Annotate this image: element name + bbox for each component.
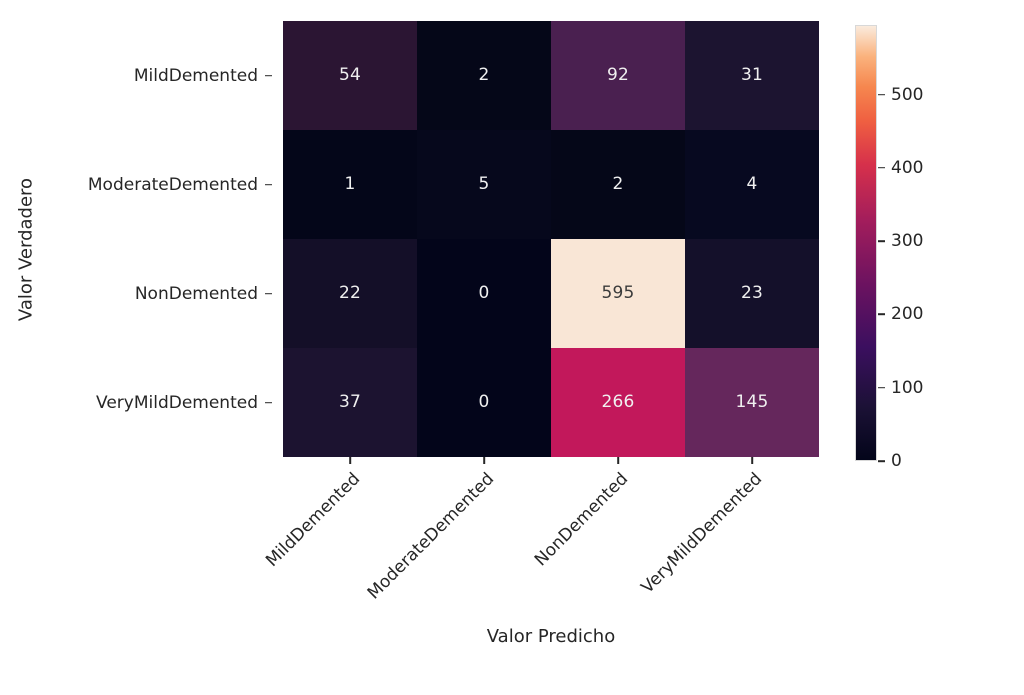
heatmap-cell: 31: [685, 21, 819, 130]
heatmap-cell-value: 2: [478, 67, 489, 84]
x-tick-mark: [617, 457, 619, 464]
colorbar-tick-label: 200: [891, 304, 923, 324]
colorbar-tick-label: 500: [891, 85, 923, 105]
heatmap-cell: 0: [417, 348, 551, 457]
heatmap-grid: 5429231152422059523370266145: [283, 21, 819, 457]
y-tick-label: VeryMildDemented: [96, 393, 258, 413]
heatmap-cell: 0: [417, 239, 551, 348]
y-tick-mark: [265, 402, 272, 404]
y-axis-title: Valor Verdadero: [16, 160, 37, 340]
heatmap-cell: 145: [685, 348, 819, 457]
heatmap-cell: 2: [417, 21, 551, 130]
colorbar-tick-mark: [878, 460, 885, 462]
colorbar-tick-mark: [878, 240, 885, 242]
y-tick-mark: [265, 293, 272, 295]
colorbar-tick-mark: [878, 167, 885, 169]
colorbar-tick-mark: [878, 314, 885, 316]
colorbar-tick-mark: [878, 94, 885, 96]
y-tick-mark: [265, 75, 272, 77]
heatmap-cell-value: 54: [339, 67, 361, 84]
colorbar-tick-label: 300: [891, 231, 923, 251]
x-tick-label: VeryMildDemented: [540, 469, 766, 695]
heatmap-cell-value: 31: [741, 67, 763, 84]
heatmap-cell-value: 37: [339, 394, 361, 411]
colorbar-gradient: [855, 25, 877, 461]
colorbar-tick-label: 0: [891, 451, 902, 471]
heatmap-cell-value: 145: [735, 394, 768, 411]
heatmap-cell-value: 22: [339, 285, 361, 302]
colorbar-tick-mark: [878, 387, 885, 389]
y-axis-ticks: MildDementedModerateDementedNonDementedV…: [0, 21, 272, 457]
x-axis-ticks: MildDementedModerateDementedNonDementedV…: [283, 457, 819, 617]
x-axis-title: Valor Predicho: [283, 626, 819, 647]
colorbar: 0100200300400500: [855, 21, 975, 461]
heatmap-cell-value: 1: [344, 176, 355, 193]
heatmap-cell-value: 595: [601, 285, 634, 302]
heatmap-cell: 595: [551, 239, 685, 348]
x-tick-mark: [349, 457, 351, 464]
x-tick-label: NonDemented: [406, 469, 632, 695]
heatmap-cell-value: 23: [741, 285, 763, 302]
x-tick-label: MildDemented: [138, 469, 364, 695]
colorbar-tick-label: 400: [891, 158, 923, 178]
x-tick-mark: [483, 457, 485, 464]
heatmap-cell-value: 2: [612, 176, 623, 193]
heatmap-cell: 22: [283, 239, 417, 348]
heatmap-cell: 23: [685, 239, 819, 348]
heatmap-cell: 5: [417, 130, 551, 239]
y-tick-label: ModerateDemented: [88, 175, 258, 195]
y-tick-mark: [265, 184, 272, 186]
heatmap-cell: 54: [283, 21, 417, 130]
x-tick-mark: [751, 457, 753, 464]
confusion-matrix-figure: 5429231152422059523370266145 MildDemente…: [0, 0, 1024, 670]
heatmap-cell: 4: [685, 130, 819, 239]
y-tick-label: NonDemented: [135, 284, 258, 304]
heatmap-cell-value: 92: [607, 67, 629, 84]
y-tick-label: MildDemented: [134, 66, 258, 86]
heatmap-cell-value: 4: [746, 176, 757, 193]
heatmap-cell: 1: [283, 130, 417, 239]
heatmap-cell: 266: [551, 348, 685, 457]
heatmap-cell: 37: [283, 348, 417, 457]
heatmap-cell: 2: [551, 130, 685, 239]
heatmap-cell-value: 0: [478, 394, 489, 411]
x-tick-label: ModerateDemented: [272, 469, 498, 695]
heatmap-cell: 92: [551, 21, 685, 130]
colorbar-tick-label: 100: [891, 378, 923, 398]
heatmap-cell-value: 266: [601, 394, 634, 411]
heatmap-cell-value: 5: [478, 176, 489, 193]
heatmap-cell-value: 0: [478, 285, 489, 302]
